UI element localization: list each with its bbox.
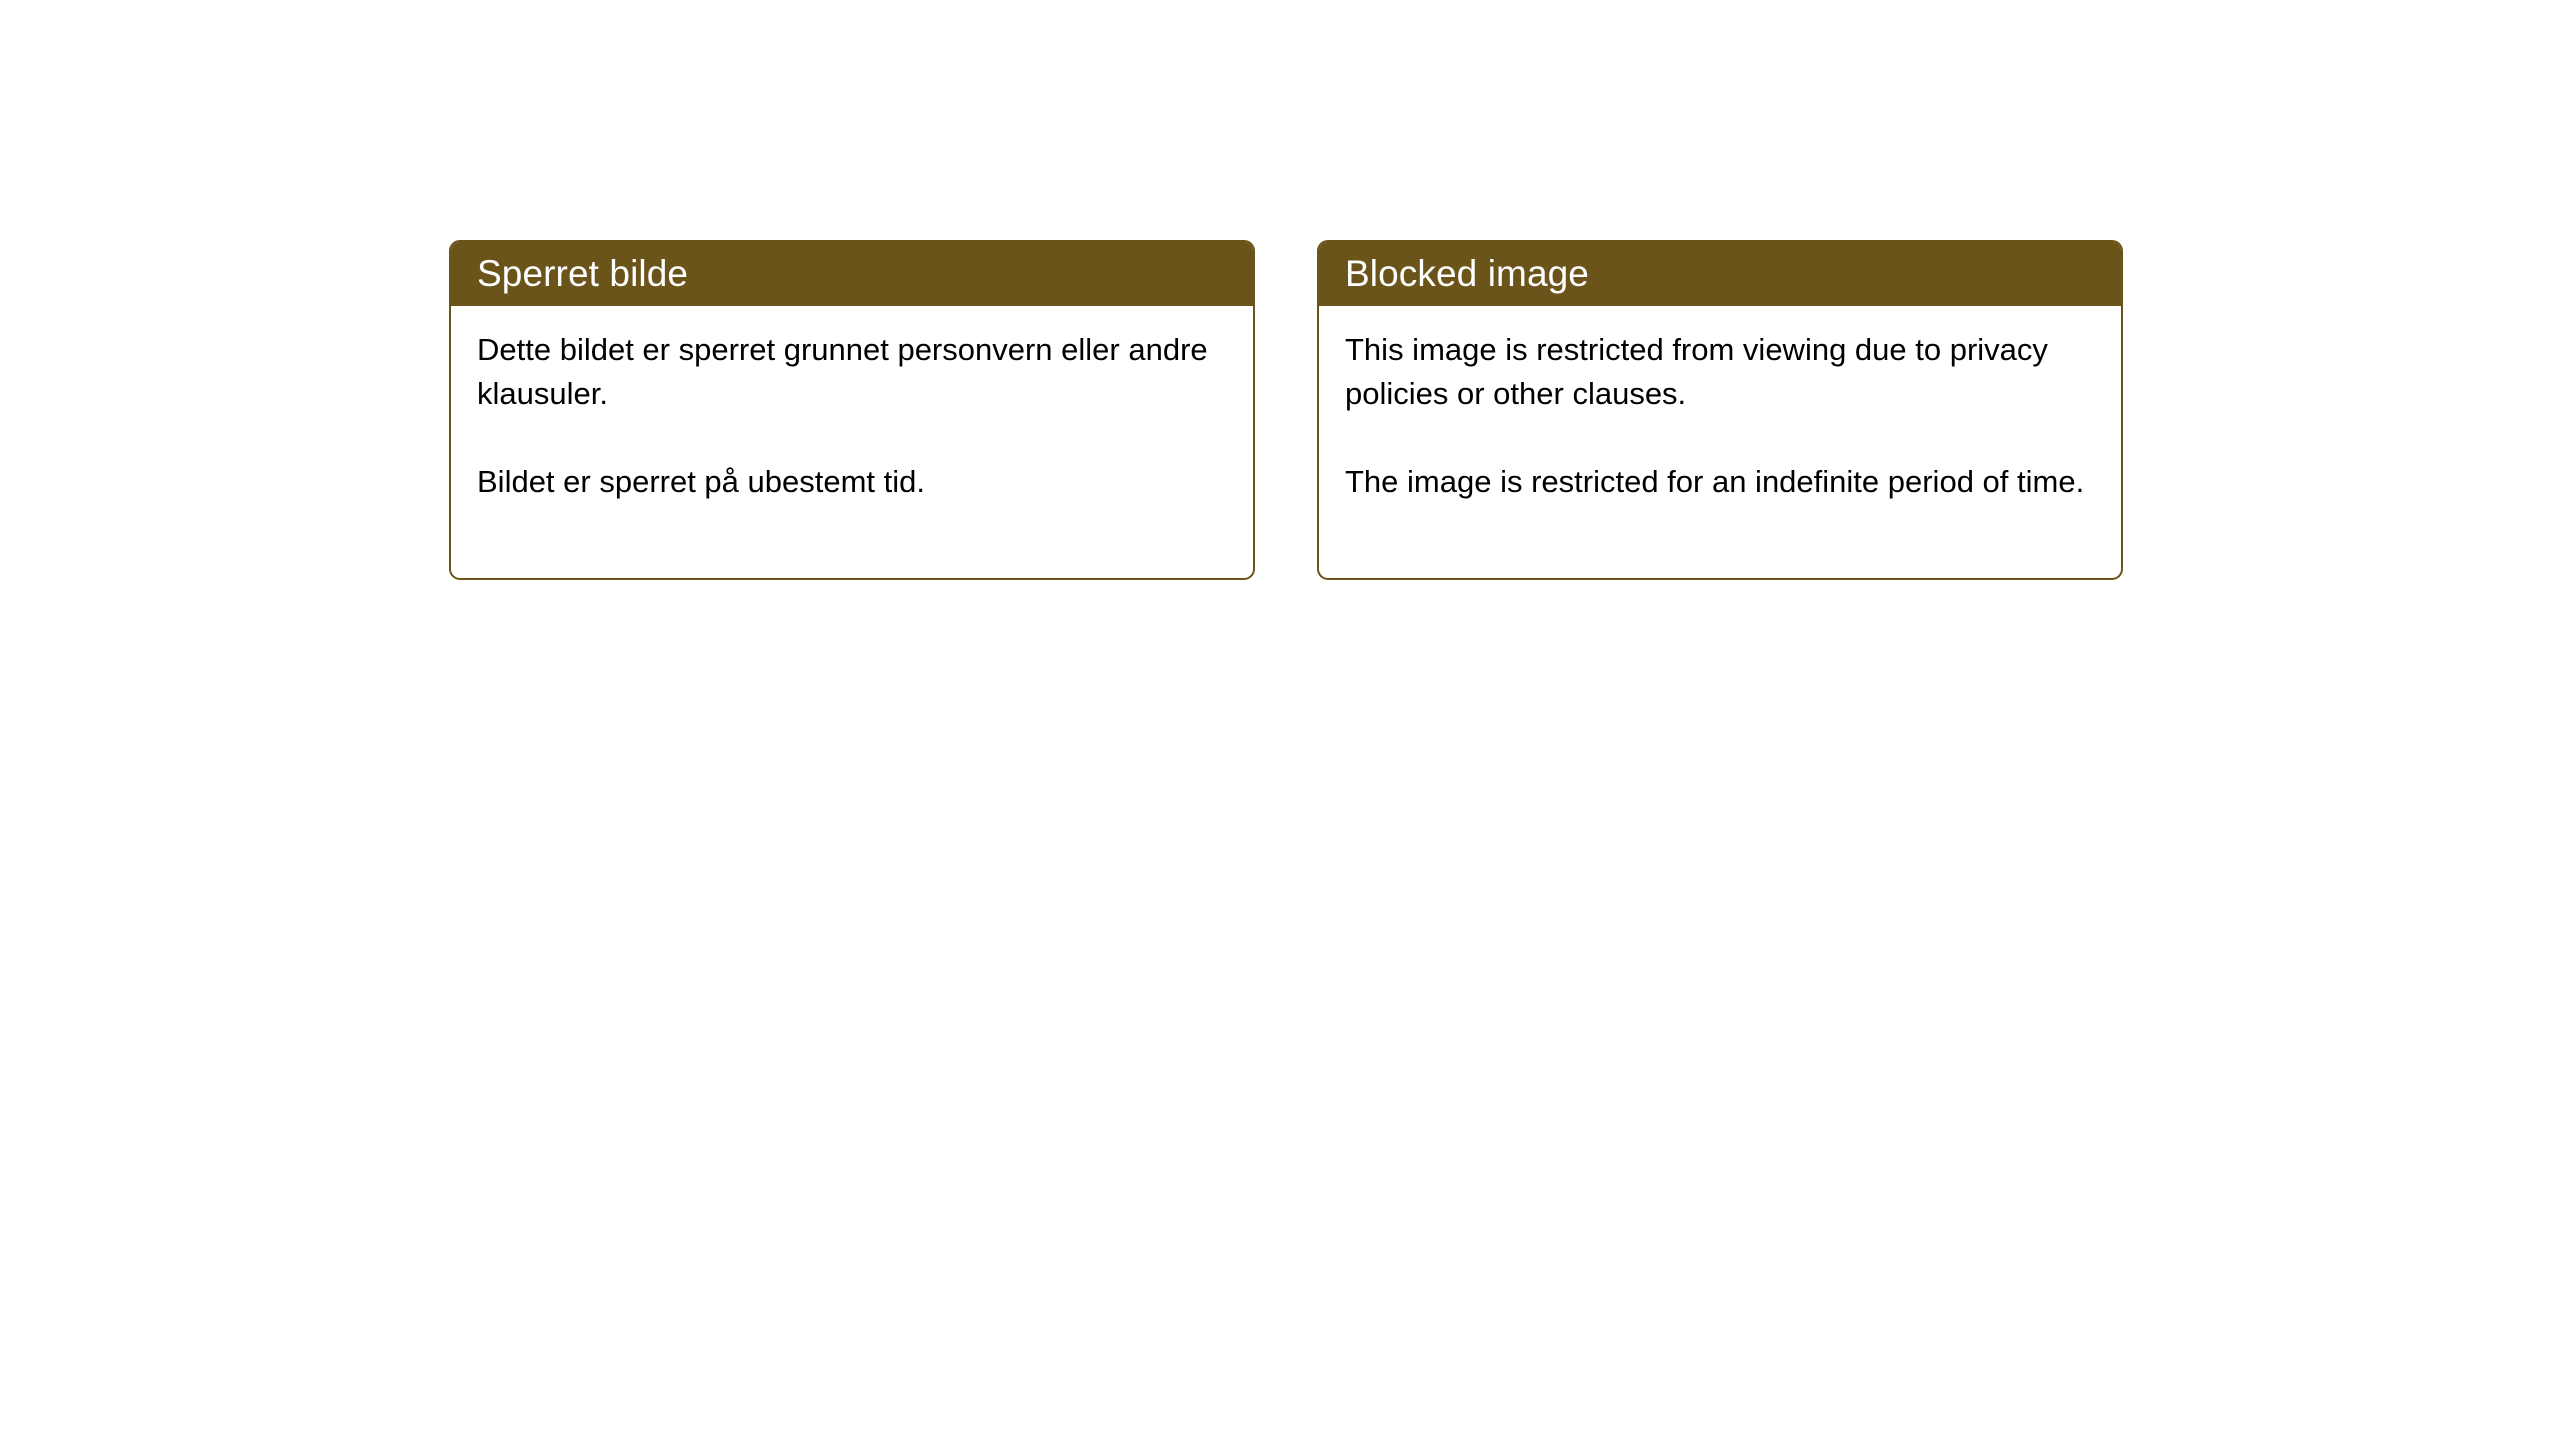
card-title-english: Blocked image — [1319, 242, 2121, 306]
blocked-image-notice-group: Sperret bilde Dette bildet er sperret gr… — [449, 240, 2123, 580]
card-paragraph-primary-english: This image is restricted from viewing du… — [1345, 328, 2095, 416]
card-title-norwegian: Sperret bilde — [451, 242, 1253, 306]
card-body-norwegian: Dette bildet er sperret grunnet personve… — [451, 306, 1253, 578]
card-body-english: This image is restricted from viewing du… — [1319, 306, 2121, 578]
card-paragraph-secondary-english: The image is restricted for an indefinit… — [1345, 460, 2095, 504]
blocked-image-notice-card-english: Blocked image This image is restricted f… — [1317, 240, 2123, 580]
card-paragraph-primary-norwegian: Dette bildet er sperret grunnet personve… — [477, 328, 1227, 416]
blocked-image-notice-card-norwegian: Sperret bilde Dette bildet er sperret gr… — [449, 240, 1255, 580]
card-paragraph-secondary-norwegian: Bildet er sperret på ubestemt tid. — [477, 460, 1227, 504]
